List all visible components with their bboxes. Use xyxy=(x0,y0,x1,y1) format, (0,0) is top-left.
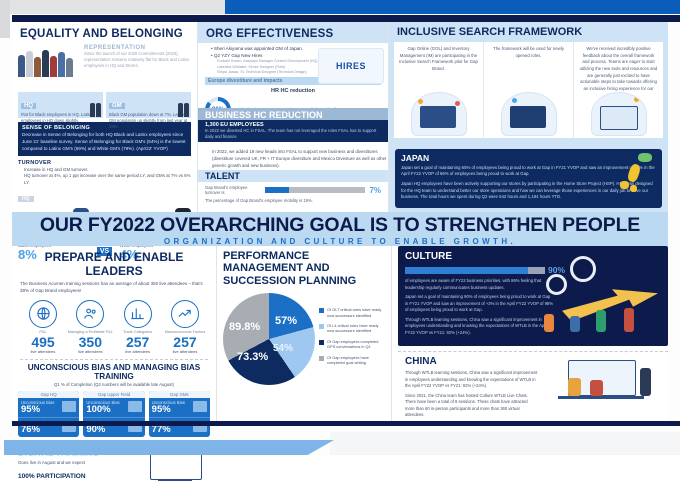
turnover-title: TURNOVER xyxy=(18,160,191,166)
isf-column: Gap Online (GOL) and Inventory Managemen… xyxy=(394,42,484,138)
bias-card-header: Gap GMs xyxy=(149,391,210,398)
panel-prepare-and-enable-leaders: PREPARE AND ENABLE LEADERS The Business … xyxy=(12,246,217,421)
culture-paragraph: of employees are aware of FY22 business … xyxy=(405,278,553,291)
prepare-title: PREPARE AND ENABLE LEADERS xyxy=(18,246,210,278)
legend-item: Of L4 critical roles have ready now succ… xyxy=(319,323,385,334)
hires-callout: HIRES xyxy=(318,48,384,84)
panel-equality-and-belonging: EQUALITY AND BELONGING REPRESENTATION Si… xyxy=(12,22,198,212)
turnover-hq-badge: HQ xyxy=(18,196,34,202)
panel-performance-management: PERFORMANCE MANAGEMENT AND SUCCESSION PL… xyxy=(217,246,392,421)
pie-label: 73.3% xyxy=(237,351,268,363)
bias-card-row: Managing Bias 90% xyxy=(83,417,144,437)
prepare-stats: P&L 495 live attendees Managing a Profit… xyxy=(20,300,208,354)
turnover-bullet: HQ turnover at 4%, up 1 ppt increase ove… xyxy=(24,173,191,186)
isf-column-text: Gap Online (GOL) and Inventory Managemen… xyxy=(399,46,478,73)
talent-block: TALENT Gap Brand's employee turnover is … xyxy=(198,170,388,203)
bottom-blue-accent xyxy=(4,440,334,455)
culture-paragraph: Japan set a goal of maintaining 90% of e… xyxy=(405,294,553,314)
bias-card-row: Unconscious Bias 95% xyxy=(149,398,210,417)
top-grey-band xyxy=(10,0,225,14)
isf-column: We've received incredibly positive feedb… xyxy=(574,42,663,138)
hr-reduction-title: HR HC reduction xyxy=(198,88,388,94)
pie-label: 89.8% xyxy=(229,321,260,333)
bias-card-row: Unconscious Bias 95% xyxy=(18,398,79,417)
business-hc-title: BUSINESS HC REDUCTION xyxy=(205,110,381,120)
hq-gm-row: HQ Flat for Black employees in HQ. Latin… xyxy=(18,92,191,118)
japan-block: JAPAN Japan set a goal of maintaining 65… xyxy=(395,149,662,208)
talent-title: TALENT xyxy=(198,170,388,182)
hq-figures-icon xyxy=(90,103,101,117)
pie-label: 57% xyxy=(275,315,297,327)
top-blue-band xyxy=(225,0,680,14)
isf-title: INCLUSIVE SEARCH FRAMEWORK xyxy=(389,22,668,40)
representation-block: REPRESENTATION Since the launch of our 2… xyxy=(18,45,191,91)
culture-block: CULTURE 90% of employees are aware of FY… xyxy=(398,246,668,346)
globe-icon xyxy=(29,300,57,328)
stat-value: 257 xyxy=(162,335,208,349)
stat-item: Macroeconomic Factors 257 live attendees xyxy=(162,300,208,354)
legend-swatch xyxy=(319,340,324,345)
stat-value: 350 xyxy=(67,335,113,349)
legend-item: Of Gap employees completed GPS conversat… xyxy=(319,339,385,350)
business-hc-subbody: In 2022 we divested HC in FSAL. The team… xyxy=(205,128,381,140)
bias-card-row: Managing Bias 76% xyxy=(18,417,79,437)
bias-card-row: Unconscious Bias 100% xyxy=(83,398,144,417)
training-icon xyxy=(128,401,142,412)
bias-card-header: Gap Upper Field xyxy=(83,391,144,398)
bias-card: Gap HQ Unconscious Bias 95% Managing Bia… xyxy=(18,391,79,437)
hq-cell: HQ Flat for Black employees in HQ. Latin… xyxy=(18,92,103,118)
sense-of-belonging-body: Decrease in Sense of Belonging for both … xyxy=(22,132,187,153)
succession-pie-chart: 57% 54% 73.3% 89.8% xyxy=(223,293,315,385)
laptop-illustration xyxy=(411,92,467,136)
representation-text: REPRESENTATION Since the launch of our 2… xyxy=(84,45,191,69)
stat-item: Trade Categories 257 live attendees xyxy=(115,300,161,354)
infographic-page: EQUALITY AND BELONGING REPRESENTATION Si… xyxy=(0,0,680,455)
culture-bar-track xyxy=(405,267,545,274)
stat-item: P&L 495 live attendees xyxy=(20,300,66,354)
trend-icon xyxy=(171,300,199,328)
people-illustration xyxy=(18,47,80,77)
equality-title: EQUALITY AND BELONGING xyxy=(12,22,197,43)
stat-sub: live attendees xyxy=(162,349,208,354)
chart-icon xyxy=(124,300,152,328)
stat-value: 495 xyxy=(20,335,66,349)
business-hc-subheader: 1,300 EU EMPLOYEES In 2022 we divested H… xyxy=(198,120,388,142)
prepare-body: The Business Acumen training sessions ha… xyxy=(20,281,208,295)
gm-body: Black GM population down at 7%. Latinx G… xyxy=(109,112,188,130)
gm-cell: GM Black GM population down at 7%. Latin… xyxy=(106,92,191,118)
gm-figures-icon xyxy=(178,103,189,117)
bias-training-subtitle: Q1 % of Completion (Q2 numbers will be a… xyxy=(18,382,210,387)
stat-sub: live attendees xyxy=(67,349,113,354)
legend-label: Of Gap employees completed GPS conversat… xyxy=(327,339,385,350)
legend-swatch xyxy=(319,308,324,313)
training-icon xyxy=(193,401,207,412)
legend-label: Of Gap employees have completed goal set… xyxy=(327,355,385,366)
pie-chart-area: 57% 54% 73.3% 89.8% Of GLT critical role… xyxy=(223,293,385,385)
left-grey-accent xyxy=(0,0,10,38)
stat-sub: live attendees xyxy=(20,349,66,354)
gm-label: GM xyxy=(109,103,125,109)
stat-value: 257 xyxy=(115,335,161,349)
legend-item: Of GLT critical roles have ready now suc… xyxy=(319,307,385,318)
culture-paragraph: Through WTLB learning sessions, China sa… xyxy=(405,317,553,337)
hq-label: HQ xyxy=(21,103,36,109)
bottom-navy-rule xyxy=(12,421,680,426)
bias-card-header: Gap HQ xyxy=(18,391,79,398)
legend-swatch xyxy=(319,324,324,329)
teamwork-illustration xyxy=(536,252,666,344)
culture-bar-fill xyxy=(405,267,528,274)
isf-columns: Gap Online (GOL) and Inventory Managemen… xyxy=(394,42,663,138)
bias-training-cards: Gap HQ Unconscious Bias 95% Managing Bia… xyxy=(18,391,210,437)
legend-item: Of Gap employees have completed goal set… xyxy=(319,355,385,366)
turnover-bullet: Increase in HQ and GM turnover. xyxy=(24,167,191,174)
bias-card: Gap GMs Unconscious Bias 95% Managing Bi… xyxy=(149,391,210,437)
bias-card-row: Managing Bias 77% xyxy=(149,417,210,437)
talent-bar-row: Gap Brand's employee turnover is 7% xyxy=(205,185,381,195)
stat-item: Managing a Profitable P&L 350 live atten… xyxy=(67,300,113,354)
bias-training-title: UNCONSCIOUS BIAS AND MANAGING BIAS TRAIN… xyxy=(18,363,210,381)
talent-bar-value: 7% xyxy=(369,186,381,195)
pms-title: PERFORMANCE MANAGEMENT AND SUCCESSION PL… xyxy=(223,246,385,287)
legend-label: Of L4 critical roles have ready now succ… xyxy=(327,323,385,334)
isf-column: The framework will be used for newly ope… xyxy=(484,42,574,138)
talent-bar-fill xyxy=(265,187,289,193)
talent-note: The percentage of Gap Brand's employee m… xyxy=(205,198,381,203)
pie-label: 54% xyxy=(273,343,293,354)
people-icon xyxy=(76,300,104,328)
meeting-illustration xyxy=(544,358,662,408)
business-hc-body: In 2022, we added 19 new heads into FSAL… xyxy=(205,149,395,169)
divider xyxy=(20,359,208,360)
talent-bar-track xyxy=(265,187,365,193)
panel-org-effectiveness: ORG EFFECTIVENESS HIRES • Sheri Akiyama … xyxy=(198,22,389,212)
hires-label: HIRES xyxy=(336,61,366,71)
china-block: CHINA Through WTLB learning sessions, Ch… xyxy=(398,351,668,411)
tablet-illustration xyxy=(501,92,557,136)
digital-training-highlight: 100% PARTICIPATION xyxy=(18,473,86,480)
bias-card: Gap Upper Field Unconscious Bias 100% Ma… xyxy=(83,391,144,437)
banner-line-1: OUR FY2022 OVERARCHING GOAL IS TO STRENG… xyxy=(12,212,668,237)
representation-body: Since the launch of our 2025 Commitments… xyxy=(84,51,191,69)
china-paragraph: Since 2021, the China team has hosted Cu… xyxy=(405,393,538,419)
banner-line-2: ORGANIZATION AND CULTURE TO ENABLE GROWT… xyxy=(12,237,668,246)
china-paragraph: Through WTLB learning sessions, China sa… xyxy=(405,370,538,390)
org-title: ORG EFFECTIVENESS xyxy=(198,22,388,43)
bottom-white-area xyxy=(330,432,680,455)
content-sheet: EQUALITY AND BELONGING REPRESENTATION Si… xyxy=(12,22,668,421)
workspace-illustration xyxy=(591,92,647,136)
hq-body: Flat for Black employees in HQ. Latinx e… xyxy=(21,112,100,124)
panel-inclusive-search-framework: INCLUSIVE SEARCH FRAMEWORK Gap Online (G… xyxy=(389,22,668,212)
legend-label: Of GLT critical roles have ready now suc… xyxy=(327,307,385,318)
turnover-block: TURNOVER Increase in HQ and GM turnover.… xyxy=(18,160,191,205)
overarching-goal-banner: OUR FY2022 OVERARCHING GOAL IS TO STRENG… xyxy=(12,212,668,246)
legend-swatch xyxy=(319,356,324,361)
panel-culture: CULTURE 90% of employees are aware of FY… xyxy=(392,246,668,421)
training-icon xyxy=(62,401,76,412)
stat-sub: live attendees xyxy=(115,349,161,354)
top-navy-rule xyxy=(12,15,680,22)
isf-column-text: The framework will be used for newly ope… xyxy=(489,46,568,59)
pie-legend: Of GLT critical roles have ready now suc… xyxy=(319,307,385,371)
talent-bar-label: Gap Brand's employee turnover is xyxy=(205,185,261,195)
japan-map-icon xyxy=(616,153,656,199)
top-row: EQUALITY AND BELONGING REPRESENTATION Si… xyxy=(12,22,668,212)
bottom-row: PREPARE AND ENABLE LEADERS The Business … xyxy=(12,246,668,421)
